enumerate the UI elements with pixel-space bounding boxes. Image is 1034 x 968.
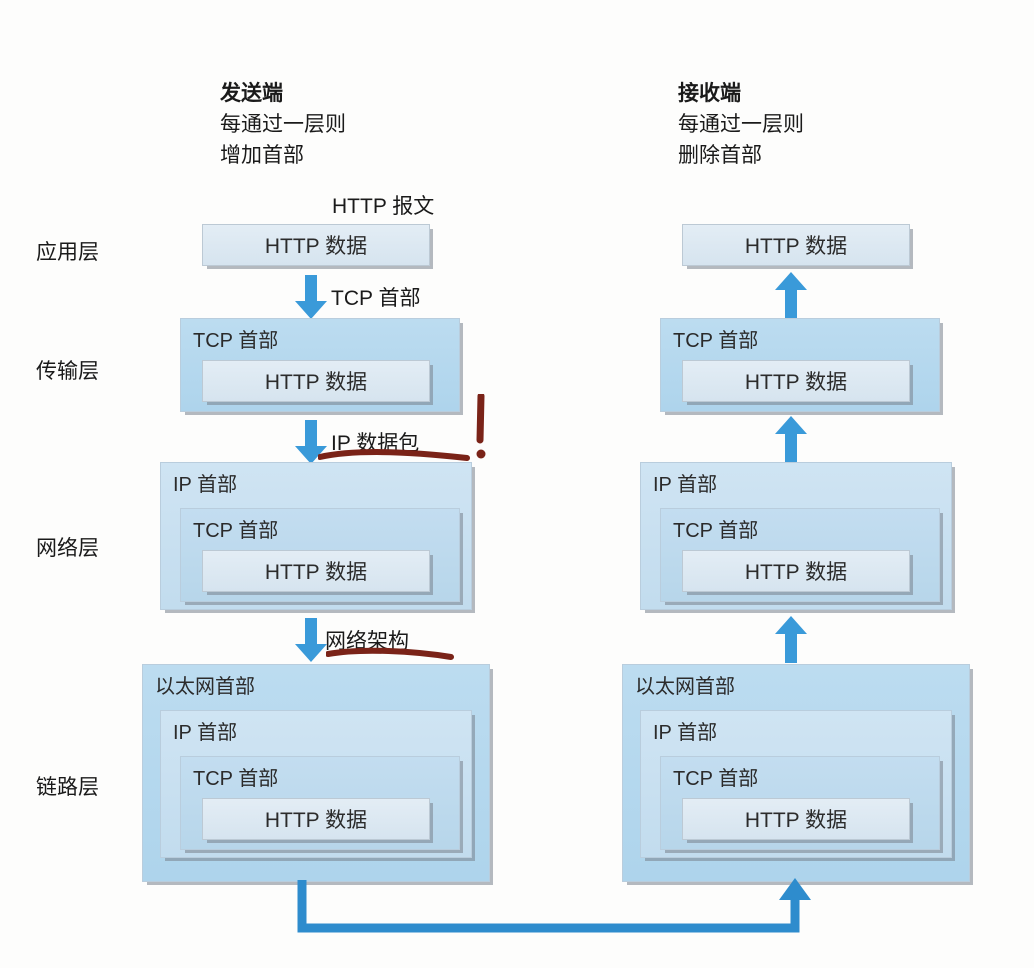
network-wire-connector <box>290 878 820 940</box>
receiver-link-tcp-header-label: TCP 首部 <box>673 762 758 791</box>
layer-label-application: 应用层 <box>36 236 99 266</box>
receiver-subtitle-line1: 每通过一层则 <box>678 109 804 140</box>
layer-label-network: 网络层 <box>36 532 99 562</box>
sender-network-ip-header-label: IP 首部 <box>173 468 237 497</box>
receiver-network-http-data-box: HTTP 数据 <box>682 550 910 592</box>
receiver-transport-tcp-header-label: TCP 首部 <box>673 324 758 353</box>
sender-transport-tcp-header-label: TCP 首部 <box>193 324 278 353</box>
caption-tcp-header: TCP 首部 <box>331 282 420 312</box>
arrow-up-network-to-transport <box>774 416 808 464</box>
receiver-network-ip-header-label: IP 首部 <box>653 468 717 497</box>
sender-link-tcp-header-label: TCP 首部 <box>193 762 278 791</box>
receiver-link-http-data-box: HTTP 数据 <box>682 798 910 840</box>
receiver-link-ethernet-header-label: 以太网首部 <box>635 670 735 699</box>
annotation-underline-network-architecture <box>326 645 454 663</box>
sender-title: 发送端 <box>220 78 346 109</box>
sender-subtitle-line1: 每通过一层则 <box>220 109 346 140</box>
sender-network-tcp-header-label: TCP 首部 <box>193 514 278 543</box>
arrow-down-app-to-transport <box>294 275 328 320</box>
sender-column-heading: 发送端 每通过一层则 增加首部 <box>220 78 346 171</box>
receiver-column-heading: 接收端 每通过一层则 删除首部 <box>678 78 804 171</box>
receiver-subtitle-line2: 删除首部 <box>678 140 804 171</box>
sender-subtitle-line2: 增加首部 <box>220 140 346 171</box>
sender-app-http-data-box: HTTP 数据 <box>202 224 430 266</box>
sender-link-ip-header-label: IP 首部 <box>173 716 237 745</box>
receiver-app-http-data-box: HTTP 数据 <box>682 224 910 266</box>
arrow-down-network-to-link <box>294 618 328 663</box>
sender-link-ethernet-header-label: 以太网首部 <box>155 670 255 699</box>
arrow-up-link-to-network <box>774 616 808 664</box>
receiver-network-tcp-header-label: TCP 首部 <box>673 514 758 543</box>
annotation-underline-ip-packet <box>318 446 470 464</box>
layer-label-transport: 传输层 <box>36 355 99 385</box>
annotation-exclamation-mark <box>472 394 492 462</box>
caption-http-message: HTTP 报文 <box>332 190 434 220</box>
sender-link-http-data-box: HTTP 数据 <box>202 798 430 840</box>
layer-label-link: 链路层 <box>36 771 99 801</box>
diagram-canvas: 发送端 每通过一层则 增加首部 接收端 每通过一层则 删除首部 应用层 传输层 … <box>0 0 1034 968</box>
receiver-transport-http-data-box: HTTP 数据 <box>682 360 910 402</box>
receiver-title: 接收端 <box>678 78 804 109</box>
sender-network-http-data-box: HTTP 数据 <box>202 550 430 592</box>
receiver-link-ip-header-label: IP 首部 <box>653 716 717 745</box>
arrow-up-transport-to-app <box>774 272 808 320</box>
sender-transport-http-data-box: HTTP 数据 <box>202 360 430 402</box>
